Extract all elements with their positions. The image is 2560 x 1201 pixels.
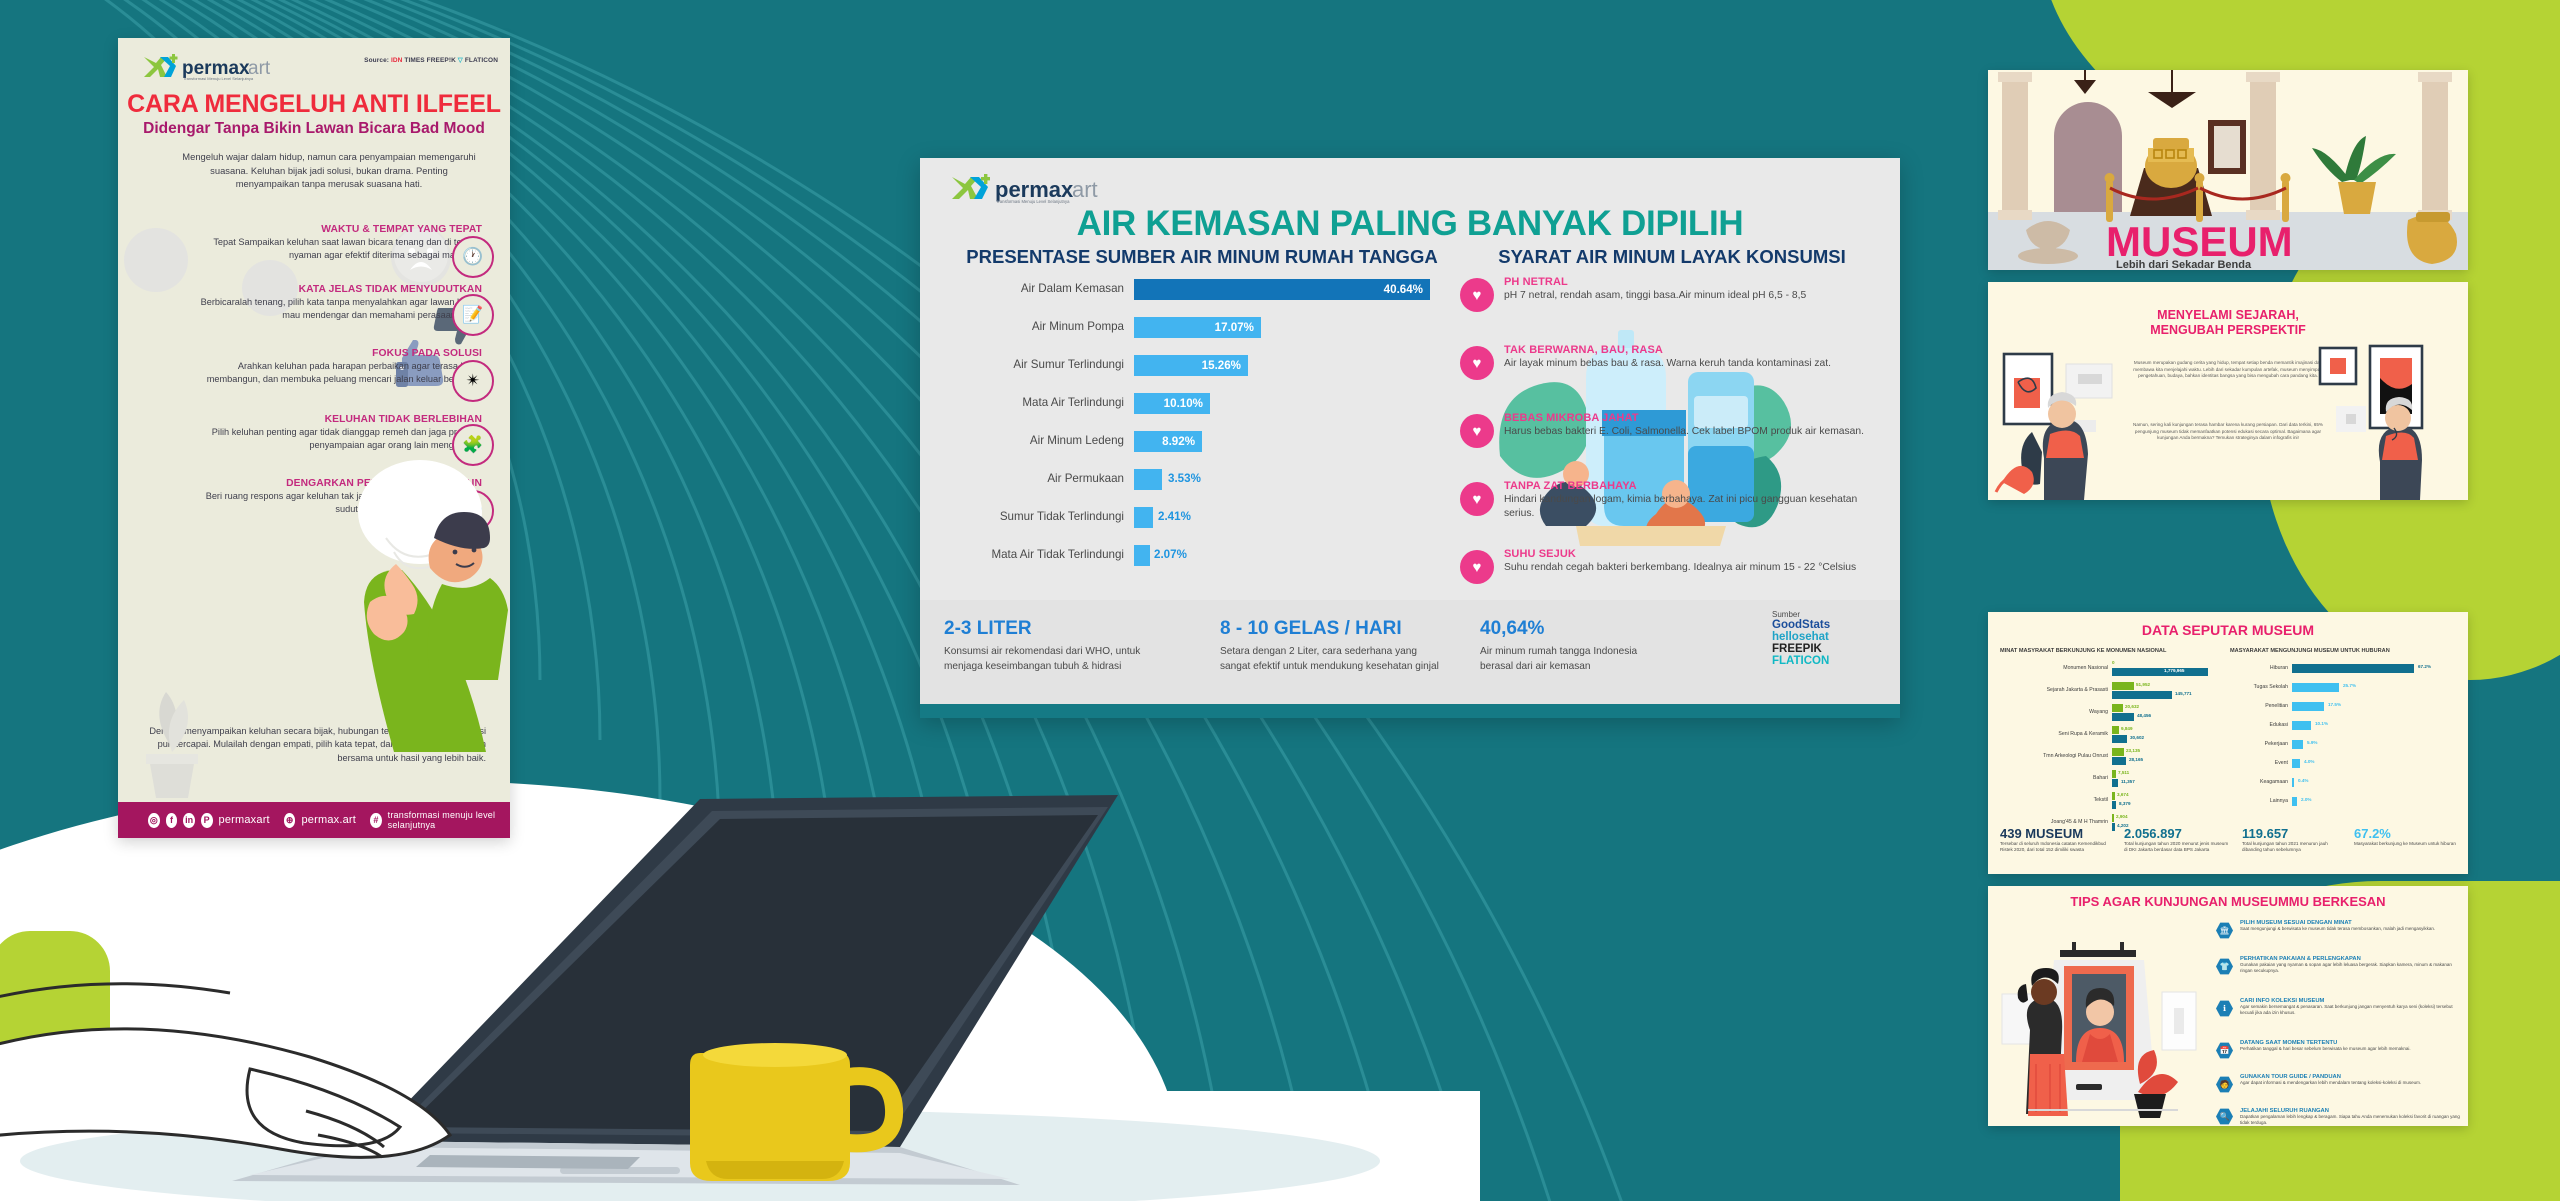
bar-fill [2292, 721, 2311, 730]
chart-row: Edukasi 10.1% [2230, 719, 2466, 736]
source-freepik: FREEPIK [1772, 643, 1882, 655]
chart-row: Lainnya 2.0% [2230, 795, 2466, 812]
page-title: CARA MENGELUH ANTI ILFEEL [118, 90, 510, 119]
bar-value-green: 20,632 [2125, 704, 2139, 709]
bar-label: Tugas Sekolah [2230, 684, 2288, 690]
museum-icon: 🏛 [2216, 922, 2233, 939]
page-subtitle: Didengar Tanpa Bikin Lawan Bicara Bad Mo… [118, 120, 510, 138]
bar-label: Air Minum Pompa [942, 314, 1124, 340]
svg-text:MUSEUM: MUSEUM [2106, 218, 2293, 265]
chart-subtitle: PRESENTASE SUMBER AIR MINUM RUMAH TANGGA [942, 246, 1462, 268]
chart-row: Wayang 20,632 48,456 [2000, 704, 2226, 724]
bar-value: 2.0% [2301, 797, 2311, 802]
tip-body: Arahkan keluhan pada harapan perbaikan a… [182, 360, 482, 387]
poster-air-kemasan: permax art Transformasi Menuju Level Sel… [920, 158, 1900, 718]
stat-number: 439 MUSEUM [2000, 826, 2114, 841]
tip-body: Berbicaralah tenang, pilih kata tanpa me… [182, 296, 482, 323]
tip-item: ℹ CARI INFO KOLEKSI MUSEUM Agar semakin … [2216, 998, 2462, 1017]
bar-fill: 8.92% [1134, 431, 1202, 452]
bar-fill [2292, 759, 2300, 768]
calendar-icon: 📅 [2216, 1042, 2233, 1059]
bar-value-teal: 145,771 [2175, 691, 2192, 696]
bar-fill-green [2112, 792, 2115, 800]
bar-label: Wayang [2000, 709, 2108, 715]
chart-row: Seni Rupa & Keramik 9,849 30,602 [2000, 726, 2226, 746]
requirement-heading: TANPA ZAT BERBAHAYA [1504, 480, 1884, 492]
bar-fill-green [2112, 770, 2116, 778]
requirement-body: Harus bebas bakteri E. Coli, Salmonella.… [1504, 425, 1884, 439]
requirement-body: Hindari kandungan logam, kimia berbahaya… [1504, 493, 1884, 520]
stat-number: 119.657 [2242, 826, 2344, 841]
bar-fill-green [2112, 682, 2134, 690]
card-title: DATA SEPUTAR MUSEUM [1988, 622, 2468, 638]
tip-body: Agar dapat informasi & mendengarkan lebi… [2240, 1080, 2462, 1086]
bar-value: 8.92% [1162, 431, 1195, 452]
bar-value-teal: 48,456 [2137, 713, 2151, 718]
stat-body: Total kunjungan tahun 2021 menurun jauh … [2242, 841, 2344, 854]
tip-heading: WAKTU & TEMPAT YANG TEPAT [182, 224, 482, 235]
tip-block: FOKUS PADA SOLUSI Arahkan keluhan pada h… [182, 348, 482, 387]
requirement-item: ♥ PH NETRAL pH 7 netral, rendah asam, ti… [1460, 276, 1884, 303]
bar-value: 25.7% [2343, 683, 2356, 688]
chart-row: Keagamaan 0.4% [2230, 776, 2466, 793]
stat-block: 2.056.897 Total kunjungan tahun 2020 men… [2124, 826, 2232, 854]
chart-row: Sejarah Jakarta & Prasasti 51,952 145,77… [2000, 682, 2226, 702]
bar-label: Sejarah Jakarta & Prasasti [2000, 687, 2108, 693]
people-heart-icon: ♥ [1460, 346, 1494, 380]
tip-body: Perhatikan tanggal & hari besar sebelum … [2240, 1046, 2462, 1052]
chart-bar-row: Air Sumur Terlindungi 15.26% [942, 352, 1462, 378]
tip-body: Dapatkan pengalaman lebih lengkap & bera… [2240, 1114, 2462, 1126]
bar-label: Lainnya [2230, 798, 2288, 804]
permaxart-logo: permax art Transformasi Menuju Level Sel… [140, 52, 288, 87]
bar-value-green: 0 [2112, 660, 2115, 665]
requirement-item: ♥ TAK BERWARNA, BAU, RASA Air layak minu… [1460, 344, 1884, 371]
bar-label: Tekstil [2000, 797, 2108, 803]
tip-item: 🏛 PILIH MUSEUM SESUAI DENGAN MINAT Saat … [2216, 920, 2462, 932]
chart-row: Tekstil 3,674 8,379 [2000, 792, 2226, 812]
bar-value: 17.5% [2328, 702, 2341, 707]
bar-value: 15.26% [1202, 355, 1241, 376]
puzzle-hand-icon: ✴ [452, 360, 494, 402]
bar-label: Hiburan [2230, 665, 2288, 671]
requirements-subtitle: SYARAT AIR MINUM LAYAK KONSUMSI [1462, 246, 1882, 268]
bar-fill [2292, 740, 2303, 749]
tip-block: KELUHAN TIDAK BERLEBIHAN Pilih keluhan p… [182, 414, 482, 453]
bar-fill-teal [2112, 713, 2134, 721]
chart-bar-row: Air Minum Pompa 17.07% [942, 314, 1462, 340]
requirement-heading: PH NETRAL [1504, 276, 1884, 288]
bar-value-teal: 30,602 [2130, 735, 2144, 740]
tip-heading: KELUHAN TIDAK BERLEBIHAN [182, 414, 482, 425]
bar-value: 2.07% [1154, 542, 1187, 568]
bar-fill-green [2112, 814, 2114, 822]
bar-value: 17.07% [1215, 317, 1254, 338]
bar-fill-green [2112, 704, 2123, 712]
bar-value-green: 51,952 [2136, 682, 2150, 687]
bar-label: Monumen Nasional [2000, 665, 2108, 671]
bar-fill [2292, 778, 2294, 787]
tip-heading: KATA JELAS TIDAK MENYUDUTKAN [182, 284, 482, 295]
bar-label: Air Sumur Terlindungi [942, 352, 1124, 378]
bar-label: Joang'45 & M H Thamrin [2000, 819, 2108, 825]
people-heart-icon: ♥ [1460, 550, 1494, 584]
bar-fill-teal [2112, 801, 2116, 809]
chart-row: Monumen Nasional 0 1,779,965 [2000, 660, 2226, 680]
bar-label: Bahari [2000, 775, 2108, 781]
stat-body: Masyarakat berkunjung ke Museum untuk hi… [2354, 841, 2456, 847]
chart-heading-left: MINAT MASYRAKAT BERKUNJUNG KE MONUMEN NA… [2000, 648, 2166, 654]
bar-label: Air Permukaan [942, 466, 1124, 492]
source-flaticon: FLATICON [1772, 655, 1882, 667]
tip-body: Pilih keluhan penting agar tidak diangga… [182, 426, 482, 453]
bar-fill-teal [2112, 691, 2172, 699]
footer-stat: 2-3 LITER Konsumsi air rekomendasi dari … [944, 618, 1144, 674]
card-title: TIPS AGAR KUNJUNGAN MUSEUMMU BERKESAN [1988, 894, 2468, 909]
stat-block: 439 MUSEUM Tersebar di seluruh Indonesia… [2000, 826, 2114, 854]
bar-value: 10.10% [1164, 393, 1203, 414]
bar-fill [2292, 702, 2324, 711]
chart-bar-row: Sumur Tidak Terlindungi 2.41% [942, 504, 1462, 530]
poster-footer-stats: 2-3 LITER Konsumsi air rekomendasi dari … [920, 600, 1900, 718]
bar-value-green: 3,674 [2117, 792, 2129, 797]
info-icon: ℹ [2216, 1000, 2233, 1017]
chart-row: Tmn Arkeologi Pulau Onrust 23,135 28,165 [2000, 748, 2226, 768]
stat-body: Air minum rumah tangga Indonesia berasal… [1480, 644, 1660, 674]
stat-block: 119.657 Total kunjungan tahun 2021 menur… [2242, 826, 2344, 854]
bar-value: 40.64% [1384, 279, 1423, 300]
footer-stat: 40,64% Air minum rumah tangga Indonesia … [1480, 618, 1660, 674]
bar-fill-teal [2112, 757, 2126, 765]
stat-body: Konsumsi air rekomendasi dari WHO, untuk… [944, 644, 1144, 674]
chart-row: Hiburan 67.2% [2230, 662, 2466, 679]
chart-bar-row: Mata Air Tidak Terlindungi 2.07% [942, 542, 1462, 568]
gallery-visitors-illustration [1988, 282, 2468, 500]
bar-fill [2292, 683, 2339, 692]
chart-row: Pekerjaan 5.9% [2230, 738, 2466, 755]
requirement-body: Air layak minum bebas bau & rasa. Warna … [1504, 357, 1884, 371]
requirement-item: ♥ BEBAS MIKROBA JAHAT Harus bebas bakter… [1460, 412, 1884, 439]
bar-fill-teal [2112, 779, 2118, 787]
bar-label: Keagamaan [2230, 779, 2288, 785]
note-pencil-icon: 📝 [452, 294, 494, 336]
bar-fill: 17.07% [1134, 317, 1261, 338]
svg-text:Transformasi Menuju Level Sela: Transformasi Menuju Level Selanjutnya [183, 76, 254, 81]
poster-cara-mengeluh: permax art Transformasi Menuju Level Sel… [118, 38, 510, 838]
tip-item: 🧑 GUNAKAN TOUR GUIDE / PANDUAN Agar dapa… [2216, 1074, 2462, 1086]
chart-bar-row: Air Minum Ledeng 8.92% [942, 428, 1462, 454]
bar-label: Edukasi [2230, 722, 2288, 728]
bar-fill: 40.64% [1134, 279, 1430, 300]
tip-body: Agar semakin bersemangat & penasaran. Sa… [2240, 1004, 2462, 1017]
bar-value-teal: 11,357 [2121, 779, 2135, 784]
bar-value-green: 2,904 [2116, 814, 2128, 819]
svg-text:Lebih dari Sekadar Benda: Lebih dari Sekadar Benda [2116, 259, 2252, 270]
chart-heading-right: MASYARAKAT MENGUNJUNGI MUSEUM UNTUK HUBU… [2230, 648, 2390, 654]
svg-text:art: art [1072, 177, 1098, 202]
stat-number: 2.056.897 [2124, 826, 2232, 841]
bar-fill: 15.26% [1134, 355, 1248, 376]
tip-body: Tepat Sampaikan keluhan saat lawan bicar… [182, 236, 482, 263]
bar-label: Air Dalam Kemasan [942, 276, 1124, 302]
source-goodstats: GoodStats [1772, 619, 1882, 631]
footer-stat: 8 - 10 GELAS / HARI Setara dengan 2 Lite… [1220, 618, 1450, 674]
sources-box: Sumber GoodStats hellosehat FREEPIK FLAT… [1772, 610, 1882, 667]
bar-fill [1134, 507, 1153, 528]
intro-paragraph: Mengeluh wajar dalam hidup, namun cara p… [178, 150, 480, 191]
poster-title: AIR KEMASAN PALING BANYAK DIPILIH [920, 204, 1900, 244]
tip-body: Gunakan pakaian yang nyaman & sopan agar… [2240, 962, 2462, 975]
tip-heading: FOKUS PADA SOLUSI [182, 348, 482, 359]
stat-number: 2-3 LITER [944, 618, 1144, 640]
bar-value-teal: 1,779,965 [2164, 668, 2184, 673]
requirement-heading: BEBAS MIKROBA JAHAT [1504, 412, 1884, 424]
bar-fill [1134, 545, 1150, 566]
tip-item: 👕 PERHATIKAN PAKAIAN & PERLENGKAPAN Guna… [2216, 956, 2462, 975]
card-data-museum: DATA SEPUTAR MUSEUM MINAT MASYRAKAT BERK… [1988, 612, 2468, 874]
bar-value: 67.2% [2418, 664, 2431, 669]
source-hellosehat: hellosehat [1772, 631, 1882, 643]
bar-value-green: 9,849 [2121, 726, 2133, 731]
card-museum-hero: MUSEUM Lebih dari Sekadar Benda [1988, 70, 2468, 270]
bar-fill [2292, 664, 2414, 673]
decorative-blob-1 [124, 228, 188, 292]
people-heart-icon: ♥ [1460, 278, 1494, 312]
desk-laptop-illustration [0, 781, 1500, 1201]
chart-bar-row: Air Permukaan 3.53% [942, 466, 1462, 492]
requirement-body: pH 7 netral, rendah asam, tinggi basa.Ai… [1504, 289, 1884, 303]
stat-number: 40,64% [1480, 618, 1660, 640]
stat-body: Tersebar di seluruh Indonesia catatan Ke… [2000, 841, 2114, 854]
bar-fill-green [2112, 726, 2119, 734]
visitor-painting-illustration [1998, 934, 2208, 1119]
stat-number: 67.2% [2354, 826, 2456, 841]
bar-value-teal: 8,379 [2119, 801, 2131, 806]
bar-label: Tmn Arkeologi Pulau Onrust [2000, 753, 2108, 759]
bar-label: Event [2230, 760, 2288, 766]
tip-item: 📅 DATANG SAAT MOMEN TERTENTU Perhatikan … [2216, 1040, 2462, 1052]
chart-row: Tugas Sekolah 25.7% [2230, 681, 2466, 698]
bar-label: Pekerjaan [2230, 741, 2288, 747]
requirement-heading: TAK BERWARNA, BAU, RASA [1504, 344, 1884, 356]
chart-bar-row: Air Dalam Kemasan 40.64% [942, 276, 1462, 302]
bar-fill: 10.10% [1134, 393, 1210, 414]
tip-item: 🔍 JELAJAHI SELURUH RUANGAN Dapatkan peng… [2216, 1108, 2462, 1126]
explore-icon: 🔍 [2216, 1108, 2233, 1125]
tip-body: Saat mengunjungi & berwisata ke museum t… [2240, 926, 2462, 932]
bar-label: Sumur Tidak Terlindungi [942, 504, 1124, 530]
footer-strip [920, 704, 1900, 718]
requirement-body: Suhu rendah cegah bakteri berkembang. Id… [1504, 561, 1884, 575]
chart-row: Penelitian 17.5% [2230, 700, 2466, 717]
bar-value: 3.53% [1168, 466, 1201, 492]
card-menyelami-sejarah: MENYELAMI SEJARAH, MENGUBAH PERSPEKTIF M… [1988, 282, 2468, 500]
stat-body: Setara dengan 2 Liter, cara sederhana ya… [1220, 644, 1450, 674]
card-tips-museum: TIPS AGAR KUNJUNGAN MUSEUMMU BERKESAN 🏛 … [1988, 886, 2468, 1126]
bar-fill [2292, 797, 2297, 806]
bar-value-green: 23,135 [2126, 748, 2140, 753]
sources-label: Sumber [1772, 610, 1882, 619]
bar-value: 5.9% [2307, 740, 2317, 745]
requirement-item: ♥ SUHU SEJUK Suhu rendah cegah bakteri b… [1460, 548, 1884, 575]
bar-value: 2.41% [1158, 504, 1191, 530]
people-heart-icon: ♥ [1460, 414, 1494, 448]
bar-value: 0.4% [2298, 778, 2308, 783]
bar-fill-teal [2112, 735, 2127, 743]
chart-bar-row: Mata Air Terlindungi 10.10% [942, 390, 1462, 416]
stat-body: Total kunjungan tahun 2020 menurut jenis… [2124, 841, 2232, 854]
requirement-item: ♥ TANPA ZAT BERBAHAYA Hindari kandungan … [1460, 480, 1884, 520]
bar-fill [1134, 469, 1162, 490]
stat-number: 8 - 10 GELAS / HARI [1220, 618, 1450, 640]
bar-label: Mata Air Terlindungi [942, 390, 1124, 416]
bar-value: 4.0% [2304, 759, 2314, 764]
bar-value: 10.1% [2315, 721, 2328, 726]
people-heart-icon: ♥ [1460, 482, 1494, 516]
chart-row: Bahari 7,511 11,357 [2000, 770, 2226, 790]
guide-icon: 🧑 [2216, 1076, 2233, 1093]
bar-label: Mata Air Tidak Terlindungi [942, 542, 1124, 568]
requirement-heading: SUHU SEJUK [1504, 548, 1884, 560]
source-credit: Source: IDN TIMES FREEP!K ▽ FLATICON [364, 56, 498, 64]
bar-value-teal: 28,165 [2129, 757, 2143, 762]
bar-value-green: 7,511 [2118, 770, 2129, 775]
bar-fill-green [2112, 748, 2124, 756]
chart-row: Event 4.0% [2230, 757, 2466, 774]
tip-block: WAKTU & TEMPAT YANG TEPAT Tepat Sampaika… [182, 224, 482, 263]
person-illustration [334, 452, 510, 752]
bar-label: Penelitian [2230, 703, 2288, 709]
tip-block: KATA JELAS TIDAK MENYUDUTKAN Berbicarala… [182, 284, 482, 323]
bar-label: Seni Rupa & Keramik [2000, 731, 2108, 737]
bar-fill-teal [2112, 668, 2208, 676]
clock-pin-icon: 🕐 [452, 236, 494, 278]
museum-hall-illustration: MUSEUM Lebih dari Sekadar Benda [1988, 70, 2468, 270]
stat-block: 67.2% Masyarakat berkunjung ke Museum un… [2354, 826, 2456, 847]
bar-label: Air Minum Ledeng [942, 428, 1124, 454]
shirt-icon: 👕 [2216, 958, 2233, 975]
